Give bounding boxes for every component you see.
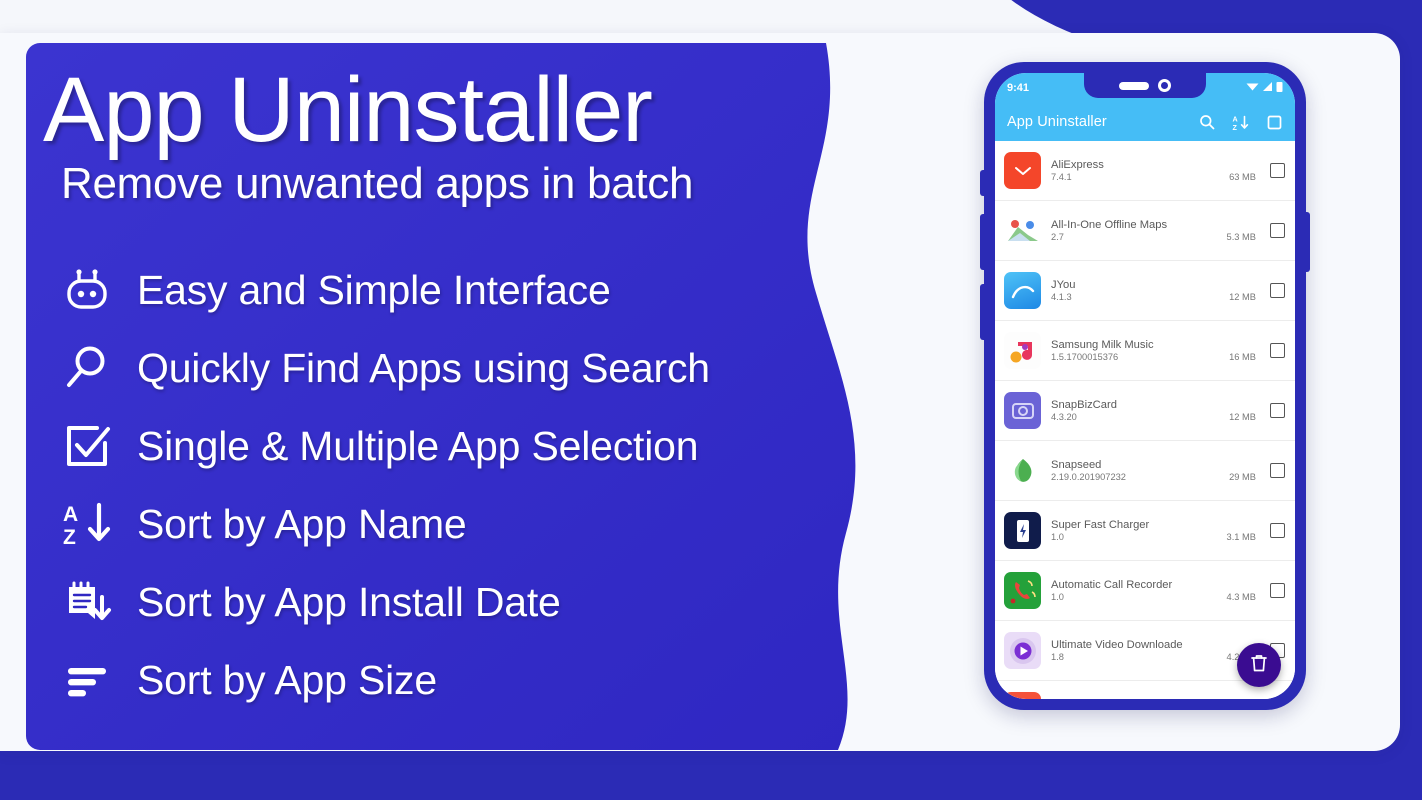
app-bar-title: App Uninstaller: [1007, 114, 1198, 130]
signal-icon: [1262, 81, 1273, 95]
app-meta: JYou 4.1.3 12 MB: [1051, 279, 1260, 302]
app-checkbox[interactable]: [1270, 403, 1285, 418]
sort-az-icon: A Z: [59, 496, 115, 552]
app-name: Automatic Call Recorder: [1051, 579, 1260, 591]
list-item[interactable]: Samsung Milk Music 1.5.1700015376 16 MB: [995, 321, 1295, 381]
speaker-grill-icon: [1119, 82, 1149, 90]
delete-fab-button[interactable]: [1237, 643, 1281, 687]
search-icon: [59, 340, 115, 396]
feature-label: Sort by App Name: [137, 501, 467, 548]
app-sub: 1.5.1700015376 16 MB: [1051, 352, 1260, 362]
sort-size-icon: [59, 652, 115, 708]
app-name: All-In-One Offline Maps: [1051, 219, 1260, 231]
app-checkbox[interactable]: [1270, 223, 1285, 238]
app-sub: 2.7 5.3 MB: [1051, 232, 1260, 242]
phone-screen: 9:41 App Uninstaller: [995, 73, 1295, 699]
svg-text:Z: Z: [1233, 123, 1238, 131]
app-icon-snapbizcard: [1004, 392, 1041, 429]
app-icon-snapseed: [1004, 452, 1041, 489]
phone-side-button: [980, 284, 985, 340]
app-size: 16 MB: [1229, 352, 1256, 362]
page-subtitle: Remove unwanted apps in batch: [61, 161, 816, 207]
app-size: 3.1 MB: [1227, 532, 1256, 542]
left-content: App Uninstaller Remove unwanted apps in …: [26, 43, 816, 750]
phone-mockup: 9:41 App Uninstaller: [984, 62, 1306, 710]
app-size: 12 MB: [1229, 412, 1256, 422]
app-bar-actions: A Z: [1198, 114, 1283, 131]
app-meta: SnapBizCard 4.3.20 12 MB: [1051, 399, 1260, 422]
app-size: 12 MB: [1229, 292, 1256, 302]
promo-banner: App Uninstaller Remove unwanted apps in …: [0, 0, 1422, 800]
app-version: 4.3.20: [1051, 412, 1077, 422]
list-item[interactable]: Super Fast Charger 1.0 3.1 MB: [995, 501, 1295, 561]
feature-label: Single & Multiple App Selection: [137, 423, 698, 470]
app-version: 1.0: [1051, 532, 1064, 542]
app-size: 29 MB: [1229, 472, 1256, 482]
list-item[interactable]: JYou 4.1.3 12 MB: [995, 261, 1295, 321]
app-version: 2.19.0.201907232: [1051, 472, 1126, 482]
phone-notch: [1084, 73, 1206, 98]
app-sub: 7.4.1 63 MB: [1051, 172, 1260, 182]
list-item[interactable]: Automatic Call Recorder 1.0 4.3 MB: [995, 561, 1295, 621]
app-sub: 4.1.3 12 MB: [1051, 292, 1260, 302]
app-checkbox[interactable]: [1270, 163, 1285, 178]
phone-power-button: [1305, 212, 1310, 272]
app-name: Super Fast Charger: [1051, 519, 1260, 531]
app-size: 63 MB: [1229, 172, 1256, 182]
app-sub: 2.19.0.201907232 29 MB: [1051, 472, 1260, 482]
feature-item-sort-install-date: Sort by App Install Date: [59, 563, 816, 641]
page-title: App Uninstaller: [43, 65, 816, 155]
app-checkbox[interactable]: [1270, 463, 1285, 478]
app-icon-fast-charger: [1004, 512, 1041, 549]
app-version: 2.7: [1051, 232, 1064, 242]
feature-list: Easy and Simple Interface Quickly Find A…: [59, 251, 816, 719]
app-meta: Automatic Call Recorder 1.0 4.3 MB: [1051, 579, 1260, 602]
list-item[interactable]: SnapBizCard 4.3.20 12 MB: [995, 381, 1295, 441]
app-name: Snapseed: [1051, 459, 1260, 471]
app-version: 1.0: [1051, 592, 1064, 602]
app-version: 1.8: [1051, 652, 1064, 662]
app-bar: App Uninstaller A Z: [995, 103, 1295, 141]
app-icon-milk-music: [1004, 332, 1041, 369]
app-name: Ultimate Video Downloade: [1051, 639, 1260, 651]
app-meta: Ultimate Video Downloade 1.8 4.2 MB: [1051, 639, 1260, 662]
app-size: 5.3 MB: [1227, 232, 1256, 242]
app-icon-video-downloader: [1004, 632, 1041, 669]
list-item[interactable]: AliExpress 7.4.1 63 MB: [995, 141, 1295, 201]
app-version: 4.1.3: [1051, 292, 1072, 302]
sort-az-icon[interactable]: A Z: [1232, 114, 1249, 131]
list-item[interactable]: Snapseed 2.19.0.201907232 29 MB: [995, 441, 1295, 501]
front-camera-icon: [1158, 79, 1171, 92]
feature-item-sort-name: A Z Sort by App Name: [59, 485, 816, 563]
app-meta: Samsung Milk Music 1.5.1700015376 16 MB: [1051, 339, 1260, 362]
app-checkbox[interactable]: [1270, 523, 1285, 538]
feature-label: Easy and Simple Interface: [137, 267, 611, 314]
app-name: SnapBizCard: [1051, 399, 1260, 411]
app-meta: All-In-One Offline Maps 2.7 5.3 MB: [1051, 219, 1260, 242]
feature-item-multi-select: Single & Multiple App Selection: [59, 407, 816, 485]
feature-item-sort-size: Sort by App Size: [59, 641, 816, 719]
app-icon-veryfit: [1004, 692, 1041, 699]
select-all-icon[interactable]: [1266, 114, 1283, 131]
app-checkbox[interactable]: [1270, 583, 1285, 598]
app-meta: Super Fast Charger 1.0 3.1 MB: [1051, 519, 1260, 542]
app-name: AliExpress: [1051, 159, 1260, 171]
list-item[interactable]: All-In-One Offline Maps 2.7 5.3 MB: [995, 201, 1295, 261]
app-icon-call-recorder: [1004, 572, 1041, 609]
app-version: 1.5.1700015376: [1051, 352, 1118, 362]
app-sub: 1.8 4.2 MB: [1051, 652, 1260, 662]
status-time: 9:41: [1007, 82, 1029, 94]
app-list[interactable]: AliExpress 7.4.1 63 MB: [995, 141, 1295, 699]
feature-label: Sort by App Install Date: [137, 579, 561, 626]
sort-date-icon: [59, 574, 115, 630]
phone-side-button: [980, 214, 985, 270]
feature-label: Quickly Find Apps using Search: [137, 345, 710, 392]
svg-text:A: A: [63, 503, 78, 526]
app-name: JYou: [1051, 279, 1260, 291]
status-icons: [1246, 81, 1283, 96]
app-meta: Snapseed 2.19.0.201907232 29 MB: [1051, 459, 1260, 482]
search-icon[interactable]: [1198, 114, 1215, 131]
app-icon-aliexpress: [1004, 152, 1041, 189]
wifi-icon: [1246, 81, 1259, 95]
feature-item-easy-interface: Easy and Simple Interface: [59, 251, 816, 329]
app-sub: 1.0 4.3 MB: [1051, 592, 1260, 602]
app-sub: 4.3.20 12 MB: [1051, 412, 1260, 422]
app-name: Samsung Milk Music: [1051, 339, 1260, 351]
app-size: 4.3 MB: [1227, 592, 1256, 602]
checkbox-icon: [59, 418, 115, 474]
app-checkbox[interactable]: [1270, 343, 1285, 358]
phone-side-button: [980, 170, 985, 196]
app-checkbox[interactable]: [1270, 283, 1285, 298]
robot-icon: [59, 262, 115, 318]
feature-item-quick-search: Quickly Find Apps using Search: [59, 329, 816, 407]
battery-icon: [1276, 81, 1283, 96]
trash-icon: [1250, 653, 1268, 678]
app-icon-offline-maps: [1004, 212, 1041, 249]
app-sub: 1.0 3.1 MB: [1051, 532, 1260, 542]
app-version: 7.4.1: [1051, 172, 1072, 182]
app-meta: AliExpress 7.4.1 63 MB: [1051, 159, 1260, 182]
feature-label: Sort by App Size: [137, 657, 437, 704]
svg-text:Z: Z: [63, 526, 76, 549]
app-icon-jyou: [1004, 272, 1041, 309]
